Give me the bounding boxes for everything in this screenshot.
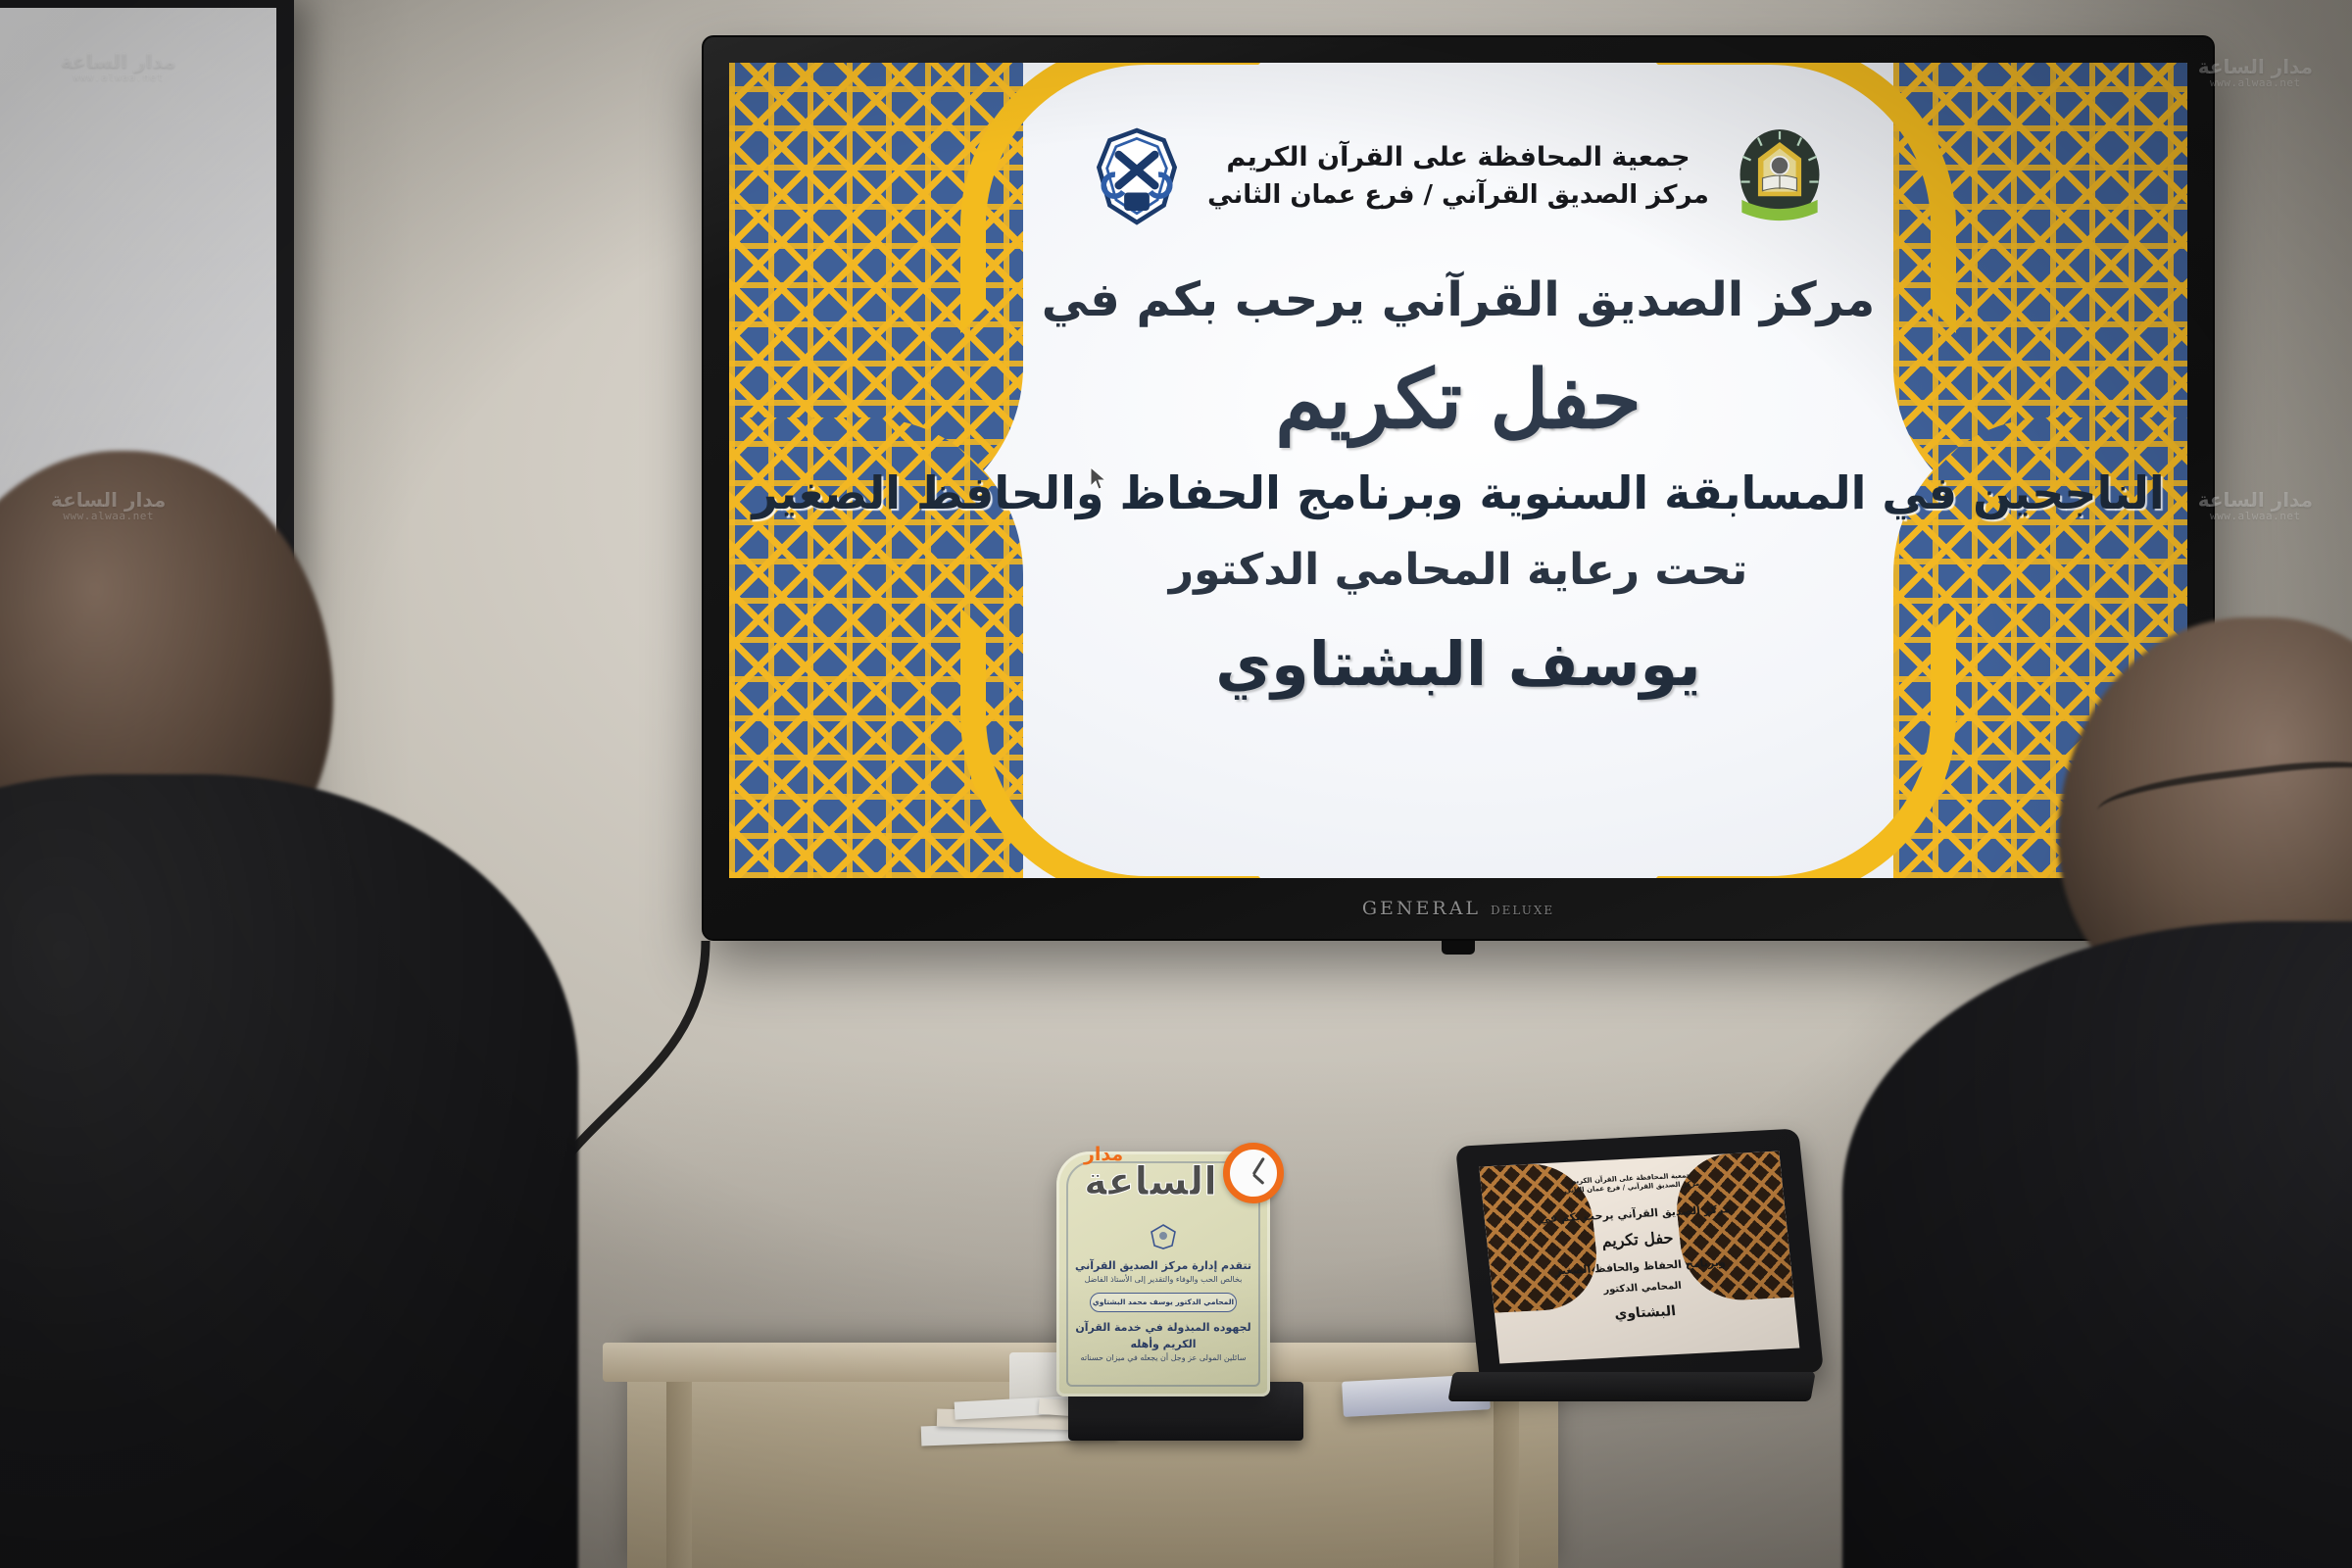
laptop-patron-line: المحامي الدكتور [1493,1275,1793,1301]
laptop-screen[interactable]: جمعية المحافظة على القرآن الكريم مركز ال… [1479,1151,1799,1364]
patron-name: يوسف البشتاوي [1215,628,1700,700]
event-subtitle: الناجحين في المسابقة السنوية وبرنامج الح… [752,466,2164,519]
watermark-word-bottom: الساعة [1084,1163,1217,1200]
organization-name: جمعية المحافظة على القرآن الكريم مركز ال… [1207,139,1709,213]
event-title: حفل تكريم [1275,353,1641,447]
patron-line: تحت رعاية المحامي الدكتور [1169,545,1747,595]
laptop-event-title: حفل تكريم [1487,1222,1788,1256]
plaque-line-2: بخالص الحب والوفاء والتقدير إلى الأستاذ … [1068,1274,1258,1286]
plaque-line-4: سائلين المولى عز وجل أن يجعله في ميزان ح… [1068,1352,1258,1364]
slide-header: جمعية المحافظة على القرآن الكريم مركز ال… [1092,125,1825,227]
org-line-1: جمعية المحافظة على القرآن الكريم [1207,139,1709,176]
plaque-text: تتقدم إدارة مركز الصديق القرآني بخالص ال… [1068,1257,1258,1365]
watermark-wordmark: مدار الساعة [1084,1146,1217,1200]
quran-society-emblem-icon [1735,125,1825,227]
desk-leg [666,1382,692,1568]
tv-ir-sensor [1442,941,1475,955]
laptop-patron-name: البشتاوي [1494,1298,1796,1329]
watermark-logo: مدار الساعة [1058,1119,1284,1227]
television: جمعية المحافظة على القرآن الكريم مركز ال… [704,37,2213,939]
org-line-2: مركز الصديق القرآني / فرع عمان الثاني [1207,177,1709,214]
tv-screen[interactable]: جمعية المحافظة على القرآن الكريم مركز ال… [729,63,2187,878]
clock-icon [1223,1143,1284,1203]
laptop-lid: جمعية المحافظة على القرآن الكريم مركز ال… [1455,1129,1824,1391]
presentation-slide: جمعية المحافظة على القرآن الكريم مركز ال… [729,63,2187,878]
plaque-ribbon: المحامي الدكتور يوسف محمد البشتاوي [1090,1293,1237,1312]
sadeeq-center-emblem-icon [1092,127,1182,225]
laptop: جمعية المحافظة على القرآن الكريم مركز ال… [1450,1137,1813,1401]
laptop-base [1447,1372,1815,1401]
whiteboard [0,0,294,1088]
mouse-pointer-icon [1090,466,1109,492]
plaque-crest-icon [1149,1224,1178,1249]
plaque-line-1: تتقدم إدارة مركز الصديق القرآني [1068,1257,1258,1274]
tv-brand-label: GENERALDELUXE [1362,898,1554,919]
photo-scene: جمعية المحافظة على القرآن الكريم مركز ال… [0,0,2352,1568]
plaque-line-3: لجهوده المبذولة في خدمة القرآن الكريم وأ… [1068,1319,1258,1352]
slide-content: جمعية المحافظة على القرآن الكريم مركز ال… [1023,92,1893,849]
laptop-slide-content: جمعية المحافظة على القرآن الكريم مركز ال… [1479,1151,1799,1364]
desk-leg [1494,1382,1519,1568]
tv-chin: GENERALDELUXE [704,878,2213,939]
welcome-line: مركز الصديق القرآني يرحب بكم في [1042,272,1875,327]
